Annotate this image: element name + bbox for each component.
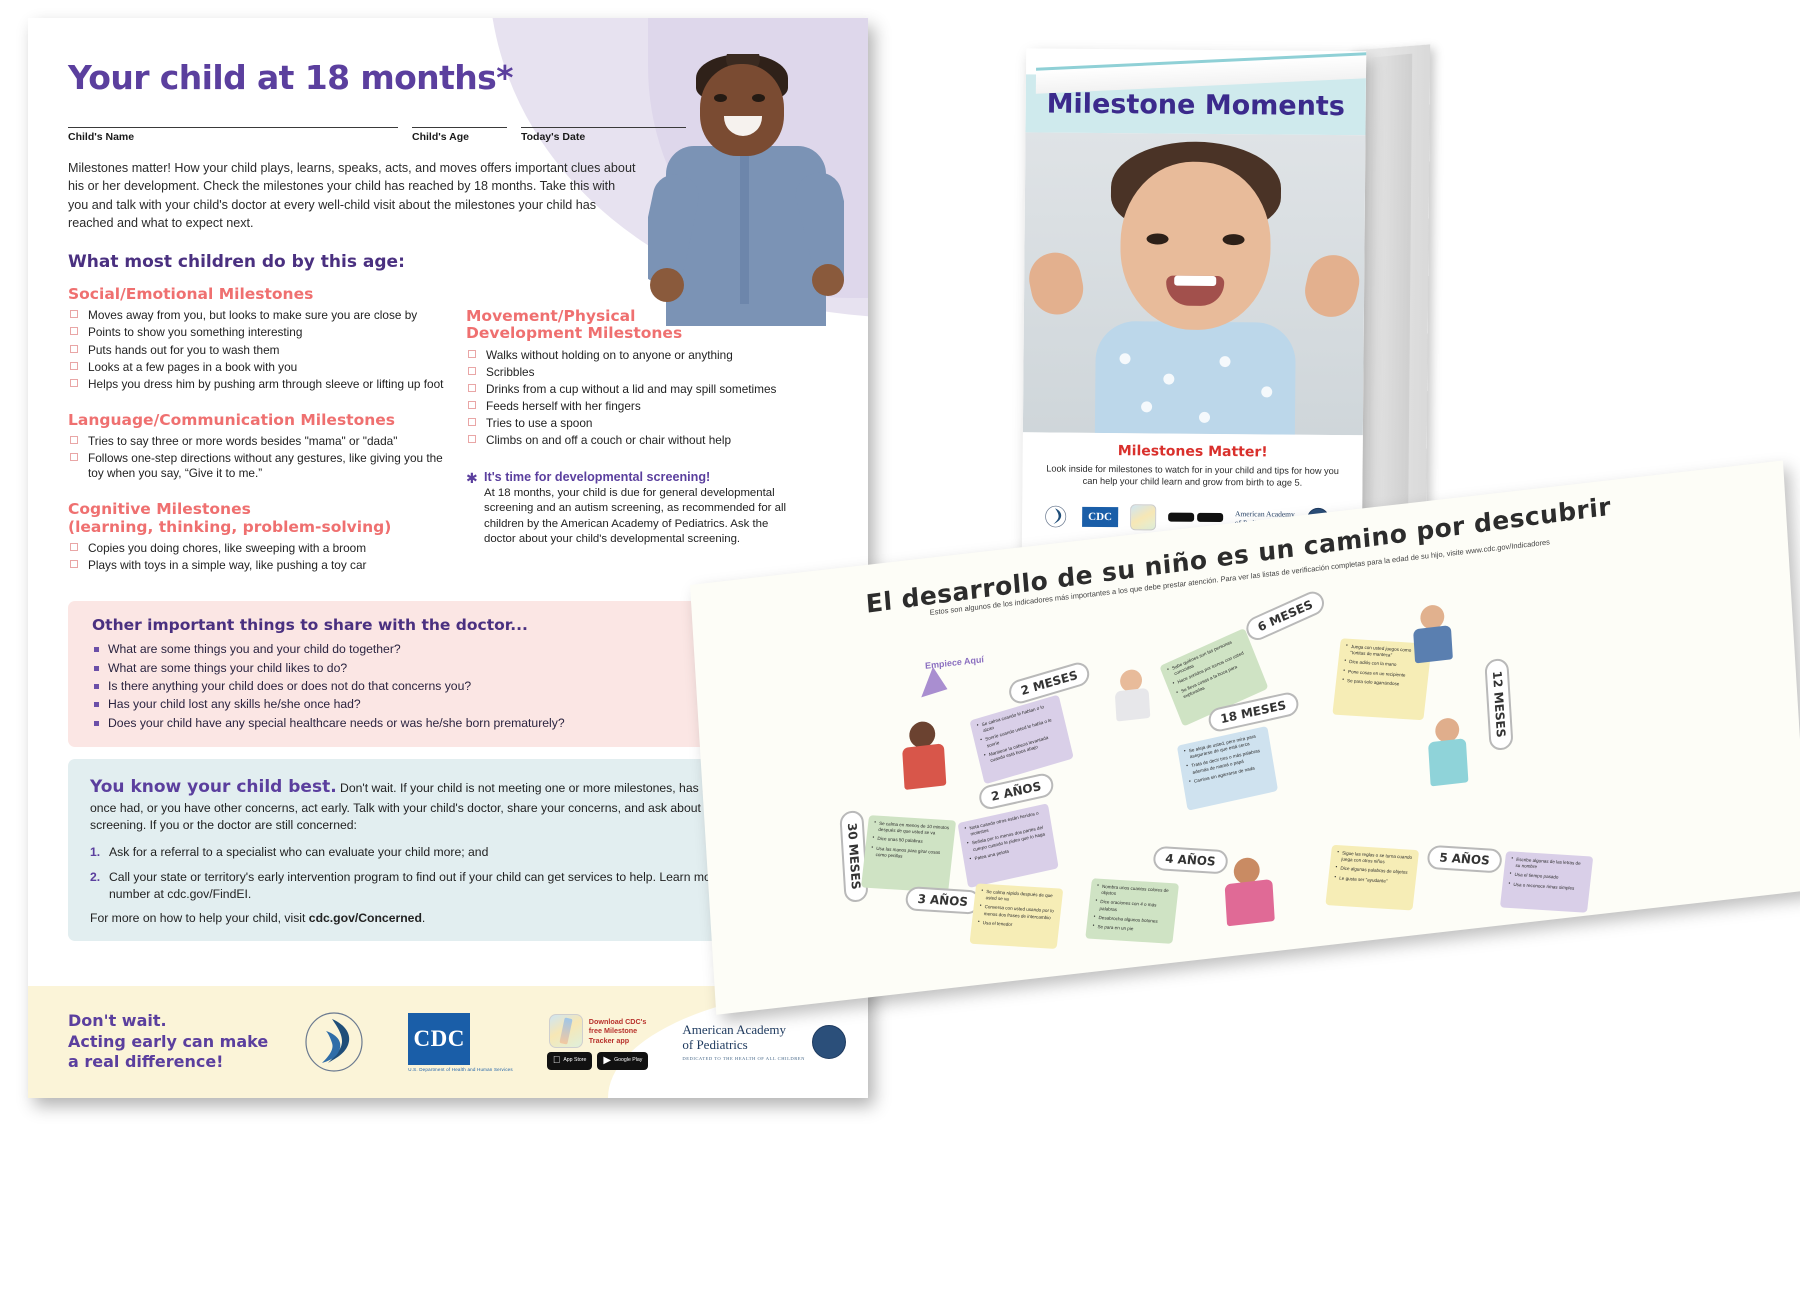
app-promo-row: Download CDC's free Milestone Tracker ap… (549, 1014, 647, 1048)
milestone-card-18-meses: Se aleja de usted, pero mira para asegur… (1177, 726, 1278, 811)
child-illustration-girl (1217, 852, 1283, 931)
map-milestone-item: Nombra unos cuantos colores de objetos (1096, 884, 1173, 901)
milestone-card-5-anos-a: Sigue las reglas o se turna cuando juega… (1325, 845, 1419, 911)
milestone-text: Tries to say three or more words besides… (88, 434, 397, 448)
google-play-badge[interactable] (1197, 513, 1223, 522)
hhs-eagle-logo-icon (302, 1009, 374, 1075)
childs-age-field[interactable]: Child's Age (412, 127, 507, 143)
checkbox-icon[interactable] (468, 384, 476, 392)
square-bullet-icon (94, 702, 99, 707)
milestone-card-3-anos: Se calma rápido después de que usted se … (970, 883, 1064, 949)
milestone-item[interactable]: Looks at a few pages in a book with you (68, 360, 448, 375)
checkbox-icon[interactable] (70, 345, 78, 353)
milestone-item[interactable]: Plays with toys in a simple way, like pu… (68, 558, 448, 573)
list-item-text: Does your child have any special healthc… (108, 716, 565, 730)
group-heading-language-communication: Language/Communication Milestones (68, 412, 448, 429)
group-heading-cognitive: Cognitive Milestones (learning, thinking… (68, 501, 448, 536)
checkbox-icon[interactable] (70, 560, 78, 568)
child-illustration-infant (1408, 600, 1459, 667)
child-illustration-preschooler (1423, 714, 1475, 791)
milestone-item[interactable]: Tries to say three or more words besides… (68, 434, 448, 449)
child-illustration-toddler (892, 714, 955, 803)
milestone-text: Moves away from you, but looks to make s… (88, 308, 417, 322)
google-play-badge[interactable]: ▶Google Play (597, 1052, 648, 1070)
childs-name-field[interactable]: Child's Name (68, 127, 398, 143)
milestone-text: Walks without holding on to anyone or an… (486, 348, 733, 362)
milestone-item[interactable]: Helps you dress him by pushing arm throu… (68, 377, 448, 392)
map-milestone-item: Sigue las reglas o se turna cuando juega… (1336, 850, 1413, 867)
checkbox-icon[interactable] (468, 350, 476, 358)
milestone-item[interactable]: Tries to use a spoon (466, 416, 806, 431)
milestone-list-movement-physical: Walks without holding on to anyone or an… (466, 348, 806, 449)
milestone-item[interactable]: Climbs on and off a couch or chair witho… (466, 433, 806, 448)
blue-box-title: You know your child best. (90, 777, 337, 797)
brochure-back-pages-2 (1368, 54, 1412, 558)
list-item-text: What are some things you and your child … (108, 642, 401, 656)
cdc-logo-label: CDC (408, 1013, 470, 1065)
milestone-text: Looks at a few pages in a book with you (88, 360, 297, 374)
app-promo-text: Download CDC's free Milestone Tracker ap… (589, 1017, 647, 1046)
child-illustration-baby (1109, 665, 1156, 726)
list-item-text: What are some things your child likes to… (108, 661, 347, 675)
milestone-text: Climbs on and off a couch or chair witho… (486, 433, 731, 447)
list-item-text: Has your child lost any skills he/she on… (108, 697, 361, 711)
google-play-badge-label: Google Play (614, 1058, 642, 1064)
milestone-card-2-anos: Nota cuando otros están heridos o molest… (957, 803, 1058, 888)
map-milestone-item: Se calma rápido después de que usted se … (980, 889, 1057, 906)
milestones-right-column: Movement/Physical Development Milestones… (466, 286, 806, 575)
footer-tagline: Don't wait. Acting early can make a real… (68, 1011, 268, 1072)
group-heading-movement-physical: Movement/Physical Development Milestones (466, 308, 806, 343)
milestone-text: Helps you dress him by pushing arm throu… (88, 377, 443, 391)
milestone-text: Points to show you something interesting (88, 325, 302, 339)
cdc-concerned-link[interactable]: cdc.gov/Concerned (309, 911, 422, 925)
cdc-logo-subtitle: U.S. Department of Health and Human Serv… (408, 1067, 513, 1072)
aap-logo: American Academy of Pediatrics DEDICATED… (682, 1023, 846, 1062)
map-milestone-item: Se para en un pie (1092, 924, 1168, 935)
milestones-left-column: Social/Emotional Milestones Moves away f… (68, 286, 448, 575)
app-store-badge[interactable] (1168, 513, 1194, 522)
square-bullet-icon (94, 666, 99, 671)
tagline-line-1: Don't wait. (68, 1011, 268, 1031)
milestone-list-social-emotional: Moves away from you, but looks to make s… (68, 308, 448, 391)
list-item: Call your state or territory's early int… (90, 869, 808, 903)
milestone-text: Tries to use a spoon (486, 416, 592, 430)
form-fields-row: Child's Name Child's Age Today's Date (68, 127, 842, 143)
aap-text: American Academy of Pediatrics DEDICATED… (682, 1023, 805, 1062)
app-promo-line-2: free Milestone (589, 1026, 647, 1036)
app-store-badges: App Store ▶Google Play (547, 1052, 649, 1070)
map-milestone-item: Conversa con usted usando por lo menos d… (979, 904, 1056, 921)
milestone-card-5-anos-b: Escribe algunas de las letras de su nomb… (1500, 851, 1593, 913)
milestone-item[interactable]: Points to show you something interesting (68, 325, 448, 340)
tagline-line-2: Acting early can make (68, 1032, 268, 1052)
checkbox-icon[interactable] (70, 310, 78, 318)
app-promo-line-1: Download CDC's (589, 1017, 647, 1027)
start-here-arrow: Empiece Aquí (925, 654, 986, 703)
milestone-list-language-communication: Tries to say three or more words besides… (68, 434, 448, 481)
milestone-tracker-app-promo[interactable]: Download CDC's free Milestone Tracker ap… (547, 1014, 649, 1070)
checkbox-icon[interactable] (70, 379, 78, 387)
milestone-item[interactable]: Follows one-step directions without any … (68, 451, 448, 481)
blue-box-footer-text: For more on how to help your child, visi… (90, 911, 309, 925)
intro-paragraph: Milestones matter! How your child plays,… (68, 159, 638, 232)
milestone-card-2-meses: Se calma cuando le hablan o lo alzan Son… (969, 695, 1073, 785)
milestone-tracker-app-icon (549, 1014, 583, 1048)
map-milestone-item: Se calma en menos de 10 minutos después … (873, 821, 950, 838)
milestone-card-30-meses: Se calma en menos de 10 minutos después … (861, 815, 956, 893)
milestone-item[interactable]: Copies you doing chores, like sweeping w… (68, 541, 448, 556)
checkbox-icon[interactable] (468, 435, 476, 443)
tagline-line-3: a real difference! (68, 1052, 268, 1072)
milestone-text: Drinks from a cup without a lid and may … (486, 382, 776, 396)
screening-body: At 18 months, your child is due for gene… (484, 486, 796, 547)
blue-box-steps: Ask for a referral to a specialist who c… (90, 844, 808, 903)
map-milestone-item: Le gusta ser "ayudante" (1334, 875, 1410, 886)
milestone-item[interactable]: Moves away from you, but looks to make s… (68, 308, 448, 323)
cdc-logo-label: CDC (1082, 507, 1118, 527)
map-milestone-item: Dice oraciones con 4 o más palabras (1094, 899, 1171, 916)
section-heading: What most children do by this age: (68, 252, 842, 272)
app-store-badge[interactable]: App Store (547, 1052, 593, 1070)
aap-line-1: American Academy (682, 1023, 805, 1038)
milestone-moments-brochure: Milestone Moments Milestones Matter! Loo… (1016, 18, 1421, 591)
group-heading-social-emotional: Social/Emotional Milestones (68, 286, 448, 303)
milestone-text: Feeds herself with her fingers (486, 399, 641, 413)
milestone-item[interactable]: Feeds herself with her fingers (466, 399, 806, 414)
checkbox-icon[interactable] (70, 436, 78, 444)
brochure-cover-photo (1023, 132, 1366, 435)
todays-date-field[interactable]: Today's Date (521, 127, 686, 143)
milestone-text: Plays with toys in a simple way, like pu… (88, 558, 366, 572)
cdc-logo: CDC U.S. Department of Health and Human … (408, 1013, 513, 1072)
square-bullet-icon (94, 684, 99, 689)
age-pill-5-anos: 5 AÑOS (1426, 845, 1503, 874)
brochure-milestones-matter-heading: Milestones Matter! (1039, 442, 1347, 461)
arrow-icon (921, 667, 953, 705)
age-pill-6-meses: 6 MESES (1243, 588, 1328, 644)
page-title: Your child at 18 months* (68, 58, 842, 97)
milestone-item[interactable]: Drinks from a cup without a lid and may … (466, 382, 806, 397)
app-promo-line-3: Tracker app (589, 1036, 647, 1046)
checkbox-icon[interactable] (70, 543, 78, 551)
milestone-card-4-anos: Nombra unos cuantos colores de objetos D… (1085, 878, 1179, 944)
checkbox-icon[interactable] (70, 453, 78, 461)
blue-box-footer-end: . (422, 911, 425, 925)
aap-tagline: DEDICATED TO THE HEALTH OF ALL CHILDREN (682, 1056, 805, 1061)
app-store-badges (1168, 513, 1223, 522)
milestone-tracker-app-icon (1130, 504, 1156, 530)
app-store-badge-label: App Store (563, 1058, 586, 1064)
square-bullet-icon (94, 721, 99, 726)
milestone-item[interactable]: Puts hands out for you to wash them (68, 343, 448, 358)
aap-seal-icon (812, 1025, 846, 1059)
todays-date-label: Today's Date (521, 131, 686, 143)
map-milestone-item: Escribe algunas de las letras de su nomb… (1510, 856, 1587, 873)
checkbox-icon[interactable] (70, 362, 78, 370)
milestone-item[interactable]: Scribbles (466, 365, 806, 380)
checkbox-icon[interactable] (468, 418, 476, 426)
aap-line-2: of Pediatrics (682, 1038, 805, 1053)
checkbox-icon[interactable] (468, 401, 476, 409)
milestones-columns: Social/Emotional Milestones Moves away f… (68, 286, 842, 575)
apple-icon:  (553, 1055, 561, 1067)
blue-box-footer: For more on how to help your child, visi… (90, 911, 808, 925)
milestone-text: Scribbles (486, 365, 535, 379)
square-bullet-icon (94, 647, 99, 652)
hhs-eagle-logo-icon (1044, 503, 1070, 529)
screening-title: It's time for developmental screening! (484, 470, 796, 484)
developmental-screening-callout: ✱ It's time for developmental screening!… (466, 470, 796, 547)
milestone-text: Follows one-step directions without any … (88, 451, 443, 480)
blue-box-lead: You know your child best. Don't wait. If… (90, 775, 808, 835)
milestone-text: Puts hands out for you to wash them (88, 343, 279, 357)
milestone-text: Copies you doing chores, like sweeping w… (88, 541, 366, 555)
map-milestone-item: Usa las manos para girar cosas como peri… (870, 845, 947, 862)
childs-age-label: Child's Age (412, 131, 507, 143)
brochure-title: Milestone Moments (1047, 88, 1345, 122)
milestone-item[interactable]: Walks without holding on to anyone or an… (466, 348, 806, 363)
list-item-text: Is there anything your child does or doe… (108, 679, 471, 693)
map-milestone-item: Usa o reconoce rimas simples (1508, 881, 1584, 892)
list-item: Ask for a referral to a specialist who c… (90, 844, 808, 861)
map-milestone-item: Se para solo agarrándose (1342, 678, 1422, 689)
play-icon: ▶ (603, 1055, 611, 1067)
age-pill-3-anos: 3 AÑOS (904, 886, 981, 915)
checkbox-icon[interactable] (70, 327, 78, 335)
star-icon: ✱ (466, 470, 478, 487)
checkbox-icon[interactable] (468, 367, 476, 375)
milestone-list-cognitive: Copies you doing chores, like sweeping w… (68, 541, 448, 573)
childs-name-label: Child's Name (68, 131, 398, 143)
brochure-subtitle-body: Look inside for milestones to watch for … (1038, 462, 1346, 490)
brochure-front-cover: Milestone Moments Milestones Matter! Loo… (1022, 48, 1367, 581)
map-milestone-item: Usa el tenedor (977, 920, 1053, 931)
age-pill-12-meses: 12 MESES (1484, 658, 1513, 751)
